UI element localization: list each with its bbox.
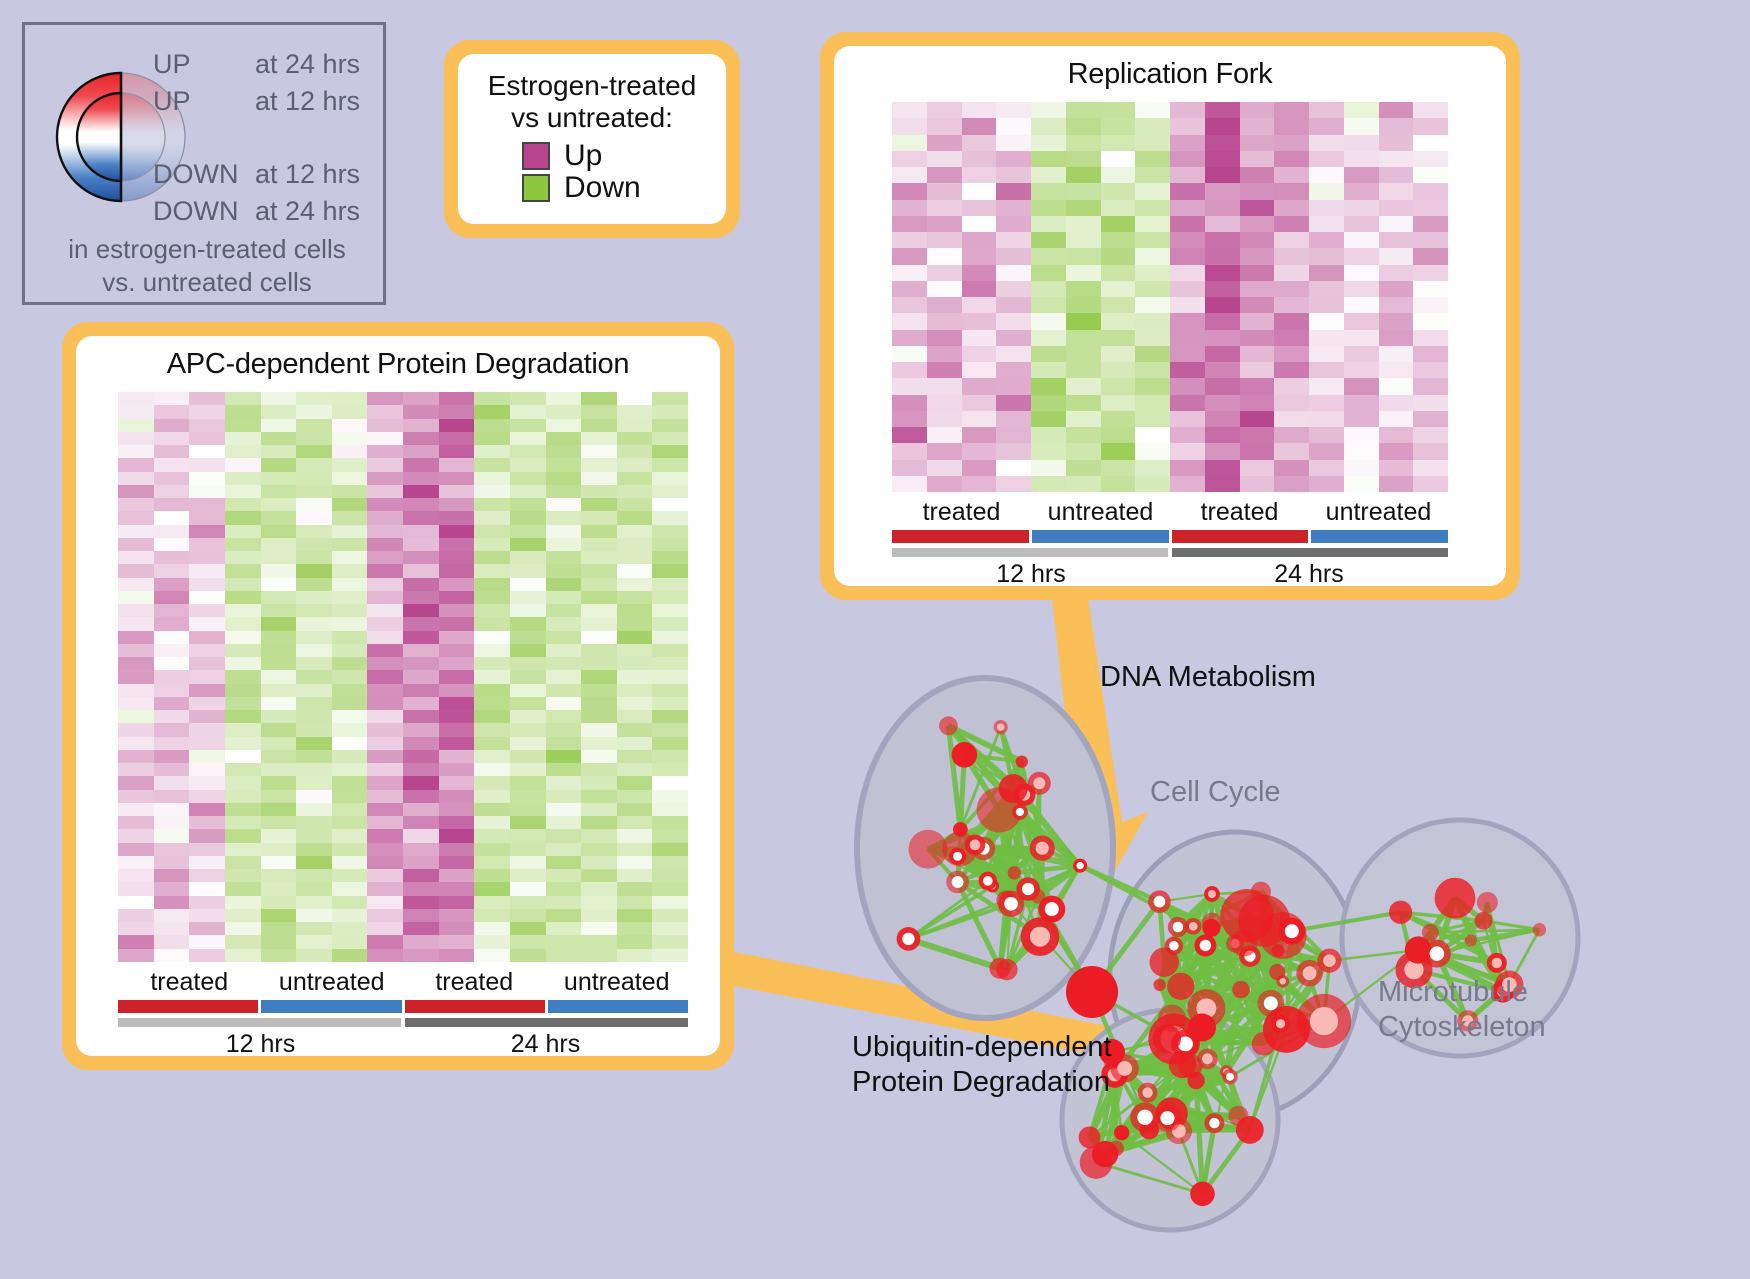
heatmap-cell (367, 419, 403, 432)
heatmap-cell (154, 882, 190, 895)
network-node[interactable] (1423, 940, 1451, 968)
heatmap-cell (261, 472, 297, 485)
circle-legend-row-down12: DOWN at 12 hrs (153, 161, 389, 188)
network-node[interactable] (1297, 994, 1351, 1048)
heatmap-cell (439, 829, 475, 842)
heatmap-cell (367, 949, 403, 962)
network-node[interactable] (952, 742, 978, 768)
network-node[interactable] (953, 822, 968, 837)
heatmap-cell (118, 498, 154, 511)
heatmap-cell (927, 167, 962, 183)
heatmap-cell (332, 498, 368, 511)
heatmap-cell (118, 843, 154, 856)
heatmap-cell (1413, 200, 1448, 216)
network-node-disc (1190, 1182, 1215, 1207)
heatmap-cell (546, 617, 582, 630)
heatmap-cell (332, 909, 368, 922)
group-bar-treated-24 (1172, 530, 1309, 543)
network-node-disc (1114, 1125, 1129, 1140)
heatmap-cell (581, 485, 617, 498)
network-node[interactable] (1276, 975, 1289, 988)
network-node[interactable] (1252, 1032, 1276, 1056)
replication-time-bars (892, 548, 1448, 557)
network-node[interactable] (1477, 892, 1498, 913)
heatmap-cell (225, 644, 261, 657)
heatmap-cell (927, 248, 962, 264)
network-node[interactable] (1251, 882, 1271, 902)
network-node-disc (1477, 892, 1498, 913)
network-node[interactable] (1278, 918, 1305, 945)
heatmap-cell (1240, 313, 1275, 329)
heatmap-cell (617, 604, 653, 617)
heatmap-cell (617, 644, 653, 657)
network-node[interactable] (965, 834, 986, 855)
network-node[interactable] (994, 720, 1008, 734)
heatmap-cell (1240, 330, 1275, 346)
network-node-core (1209, 1118, 1219, 1128)
heatmap-cell (154, 816, 190, 829)
heatmap-cell (546, 419, 582, 432)
network-node-disc (939, 716, 958, 735)
heatmap-cell (962, 102, 997, 118)
heatmap-cell (474, 670, 510, 683)
network-node[interactable] (1167, 973, 1194, 1000)
network-node[interactable] (1028, 772, 1051, 795)
heatmap-cell (118, 750, 154, 763)
heatmap-cell (581, 538, 617, 551)
network-node[interactable] (1092, 1141, 1118, 1167)
heatmap-cell (927, 135, 962, 151)
heatmap-cell (118, 511, 154, 524)
heatmap-cell (546, 869, 582, 882)
heatmap-cell (1344, 232, 1379, 248)
heatmap-cell (892, 427, 927, 443)
heatmap-cell (439, 909, 475, 922)
heatmap-cell (1066, 102, 1101, 118)
heatmap-cell (617, 856, 653, 869)
heatmap-cell (1031, 102, 1066, 118)
heatmap-cell (332, 564, 368, 577)
heatmap-cell (225, 829, 261, 842)
heatmap-cell (261, 922, 297, 935)
heatmap-cell (510, 617, 546, 630)
heatmap-cell (1379, 313, 1414, 329)
heatmap-cell (617, 591, 653, 604)
heatmap-cell (474, 763, 510, 776)
heatmap-cell (652, 670, 688, 683)
heatmap-cell (332, 432, 368, 445)
heatmap-cell (510, 604, 546, 617)
heatmap-cell (652, 405, 688, 418)
heatmap-cell (1413, 427, 1448, 443)
heatmap-cell (510, 525, 546, 538)
heatmap-cell (1101, 265, 1136, 281)
cluster-label-ubiquitin-line2: Protein Degradation (852, 1065, 1112, 1100)
network-node[interactable] (1317, 949, 1341, 973)
network-node[interactable] (1204, 886, 1220, 902)
heatmap-cell (962, 411, 997, 427)
heatmap-cell (1309, 232, 1344, 248)
heatmap-cell (1031, 330, 1066, 346)
heatmap-cell (225, 564, 261, 577)
heatmap-cell (581, 869, 617, 882)
replication-fork-axis: treated untreated treated untreated 12 h (892, 498, 1448, 586)
heatmap-cell (1240, 151, 1275, 167)
network-node[interactable] (1232, 981, 1249, 998)
heatmap-cell (332, 935, 368, 948)
network-node-core (1303, 966, 1317, 980)
heatmap-cell (1413, 395, 1448, 411)
network-node[interactable] (1165, 937, 1183, 955)
network-node[interactable] (1008, 866, 1021, 879)
heatmap-cell (439, 578, 475, 591)
heatmap-cell (189, 644, 225, 657)
heatmap-cell (927, 265, 962, 281)
heatmap-cell (403, 631, 439, 644)
heatmap-cell (1170, 411, 1205, 427)
heatmap-cell (996, 443, 1031, 459)
heatmap-cell (996, 346, 1031, 362)
heatmap-cell (189, 511, 225, 524)
heatmap-cell (617, 498, 653, 511)
heatmap-cell (296, 803, 332, 816)
heatmap-cell (474, 816, 510, 829)
heatmap-cell (1031, 476, 1066, 492)
heatmap-cell (118, 458, 154, 471)
heatmap-cell (439, 458, 475, 471)
heatmap-cell (332, 684, 368, 697)
network-node[interactable] (996, 959, 1017, 980)
heatmap-cell (225, 419, 261, 432)
heatmap-cell (154, 922, 190, 935)
heatmap-cell (1170, 183, 1205, 199)
network-node[interactable] (1487, 953, 1507, 973)
heatmap-cell (118, 737, 154, 750)
heatmap-cell (546, 445, 582, 458)
heatmap-cell (261, 723, 297, 736)
heatmap-cell (1101, 151, 1136, 167)
heatmap-cell (996, 200, 1031, 216)
heatmap-cell (510, 922, 546, 935)
network-node[interactable] (1038, 896, 1065, 923)
heatmap-cell (403, 419, 439, 432)
heatmap-cell (154, 909, 190, 922)
heatmap-cell (439, 511, 475, 524)
heatmap-cell (332, 631, 368, 644)
network-node[interactable] (1169, 1051, 1196, 1078)
network-node[interactable] (1271, 944, 1284, 957)
heatmap-cell (546, 684, 582, 697)
heatmap-cell (296, 591, 332, 604)
heatmap-cell (261, 803, 297, 816)
network-node[interactable] (1114, 1125, 1129, 1140)
heatmap-cell (367, 710, 403, 723)
heatmap-cell (296, 790, 332, 803)
heatmap-cell (1240, 183, 1275, 199)
network-node[interactable] (1475, 912, 1493, 930)
heatmap-cell (367, 869, 403, 882)
network-node[interactable] (1272, 1015, 1290, 1033)
circle-legend-value: at 12 hrs (255, 88, 360, 115)
heatmap-cell (1240, 427, 1275, 443)
network-node[interactable] (1202, 913, 1222, 933)
heatmap-cell (510, 710, 546, 723)
heatmap-cell (1274, 118, 1309, 134)
heatmap-cell (474, 710, 510, 723)
heatmap-cell (617, 803, 653, 816)
heatmap-cell (474, 776, 510, 789)
network-node-disc (953, 822, 968, 837)
heatmap-cell (652, 949, 688, 962)
network-node-disc (1153, 979, 1165, 991)
heatmap-cell (652, 538, 688, 551)
apc-degradation-panel: APC-dependent Protein Degradation treate… (62, 322, 734, 1070)
heatmap-cell (118, 935, 154, 948)
heatmap-cell (154, 604, 190, 617)
network-node-disc (1092, 1141, 1118, 1167)
heatmap-cell (1379, 216, 1414, 232)
heatmap-cell (118, 564, 154, 577)
heatmap-cell (546, 723, 582, 736)
heatmap-cell (474, 419, 510, 432)
heatmap-cell (261, 564, 297, 577)
heatmap-cell (261, 670, 297, 683)
heatmap-cell (154, 631, 190, 644)
heatmap-cell (1066, 411, 1101, 427)
network-node-core (953, 852, 962, 861)
network-node[interactable] (1073, 859, 1087, 873)
heatmap-cell (474, 485, 510, 498)
heatmap-cell (1274, 411, 1309, 427)
network-node[interactable] (1030, 836, 1055, 861)
heatmap-cell (332, 511, 368, 524)
heatmap-cell (962, 265, 997, 281)
heatmap-cell (1135, 346, 1170, 362)
heatmap-cell (225, 803, 261, 816)
time-label-12hrs: 12 hrs (892, 560, 1170, 586)
apc-time-bars (118, 1018, 688, 1027)
heatmap-cell (225, 790, 261, 803)
circle-legend-box: UP at 24 hrs UP at 12 hrs DOWN at 12 hrs… (22, 22, 386, 305)
heatmap-cell (367, 631, 403, 644)
heatmap-cell (1101, 118, 1136, 134)
heatmap-cell (118, 670, 154, 683)
network-node-disc (1230, 929, 1257, 956)
heatmap-cell (225, 816, 261, 829)
heatmap-cell (546, 697, 582, 710)
heatmap-cell (1413, 216, 1448, 232)
circle-legend-key: DOWN (153, 198, 255, 225)
heatmap-cell (403, 922, 439, 935)
heatmap-cell (927, 297, 962, 313)
heatmap-cell (1344, 183, 1379, 199)
network-node[interactable] (1016, 877, 1040, 901)
heatmap-cell (1413, 102, 1448, 118)
heatmap-cell (403, 829, 439, 842)
heatmap-cell (996, 476, 1031, 492)
heatmap-cell (652, 392, 688, 405)
heatmap-cell (1413, 183, 1448, 199)
heatmap-cell (1379, 460, 1414, 476)
heatmap-cell (1240, 297, 1275, 313)
heatmap-cell (225, 670, 261, 683)
circle-legend-value: at 24 hrs (255, 51, 360, 78)
network-node[interactable] (946, 871, 969, 894)
network-node[interactable] (1465, 934, 1477, 946)
heatmap-cell (581, 564, 617, 577)
network-node-core (1076, 862, 1083, 869)
heatmap-cell (617, 763, 653, 776)
network-node[interactable] (1185, 918, 1202, 935)
heatmap-cell (439, 670, 475, 683)
network-node[interactable] (1389, 901, 1412, 924)
heatmap-cell (1274, 281, 1309, 297)
network-node[interactable] (979, 872, 997, 890)
heatmap-cell (546, 485, 582, 498)
heatmap-cell (1240, 135, 1275, 151)
heatmap-cell (332, 419, 368, 432)
heatmap-cell (1240, 281, 1275, 297)
network-node[interactable] (1222, 1069, 1237, 1084)
heatmap-cell (154, 657, 190, 670)
heatmap-cell (962, 460, 997, 476)
heatmap-cell (1135, 411, 1170, 427)
network-node[interactable] (1138, 1083, 1158, 1103)
heatmap-cell (1309, 183, 1344, 199)
heatmap-cell (581, 670, 617, 683)
heatmap-cell (225, 869, 261, 882)
network-node[interactable] (1016, 755, 1028, 767)
heatmap-cell (546, 750, 582, 763)
heatmap-cell (1135, 167, 1170, 183)
heatmap-cell (1274, 313, 1309, 329)
network-node[interactable] (1148, 890, 1171, 913)
heatmap-cell (1205, 151, 1240, 167)
network-node[interactable] (909, 830, 948, 869)
heatmap-cell (261, 419, 297, 432)
circle-legend-key: DOWN (153, 161, 255, 188)
heatmap-cell (1066, 265, 1101, 281)
heatmap-cell (1205, 476, 1240, 492)
heatmap-cell (927, 378, 962, 394)
network-node[interactable] (1533, 923, 1546, 936)
heatmap-cell (261, 935, 297, 948)
heatmap-cell (1379, 248, 1414, 264)
network-node[interactable] (1204, 1113, 1224, 1133)
heatmap-cell (474, 498, 510, 511)
heatmap-cell (261, 617, 297, 630)
heatmap-cell (367, 511, 403, 524)
heatmap-cell (581, 790, 617, 803)
heatmap-cell (118, 392, 154, 405)
heatmap-cell (225, 578, 261, 591)
heatmap-cell (617, 843, 653, 856)
network-node[interactable] (1228, 1106, 1248, 1126)
heatmap-cell (367, 737, 403, 750)
network-node[interactable] (1188, 1014, 1216, 1042)
network-node[interactable] (1066, 966, 1118, 1018)
heatmap-cell (474, 405, 510, 418)
group-label-untreated-12: untreated (1031, 498, 1170, 527)
network-node[interactable] (1012, 804, 1028, 820)
heatmap-cell (118, 644, 154, 657)
network-node-core (1492, 958, 1502, 968)
heatmap-cell (1031, 265, 1066, 281)
heatmap-cell (1101, 216, 1136, 232)
legend-item-down-label: Down (564, 173, 641, 203)
heatmap-cell (1274, 427, 1309, 443)
heatmap-cell (1170, 297, 1205, 313)
heatmap-cell (1309, 151, 1344, 167)
heatmap-cell (1205, 427, 1240, 443)
heatmap-cell (261, 737, 297, 750)
heatmap-cell (225, 458, 261, 471)
heatmap-cell (225, 697, 261, 710)
heatmap-cell (1205, 281, 1240, 297)
heatmap-cell (927, 102, 962, 118)
heatmap-cell (403, 710, 439, 723)
heatmap-cell (1031, 118, 1066, 134)
network-node[interactable] (1194, 934, 1216, 956)
heatmap-cell (996, 167, 1031, 183)
heatmap-cell (189, 591, 225, 604)
network-node[interactable] (1190, 1182, 1215, 1207)
heatmap-cell (261, 551, 297, 564)
heatmap-cell (1309, 102, 1344, 118)
heatmap-cell (261, 538, 297, 551)
network-node[interactable] (897, 927, 921, 951)
heatmap-cell (892, 443, 927, 459)
network-node[interactable] (1153, 979, 1165, 991)
group-label-untreated-24: untreated (546, 968, 689, 997)
network-node[interactable] (1021, 917, 1060, 956)
network-node[interactable] (939, 716, 958, 735)
heatmap-cell (617, 405, 653, 418)
network-node[interactable] (1230, 929, 1257, 956)
heatmap-cell (1240, 102, 1275, 118)
heatmap-cell (154, 392, 190, 405)
network-node[interactable] (1435, 878, 1476, 919)
heatmap-cell (1066, 216, 1101, 232)
heatmap-cell (1344, 330, 1379, 346)
heatmap-cell (652, 644, 688, 657)
time-bar-24hrs (405, 1018, 688, 1027)
heatmap-cell (332, 472, 368, 485)
heatmap-cell (474, 525, 510, 538)
network-node[interactable] (1257, 990, 1284, 1017)
heatmap-cell (1344, 118, 1379, 134)
network-node[interactable] (999, 774, 1028, 803)
heatmap-cell (118, 684, 154, 697)
heatmap-cell (189, 776, 225, 789)
heatmap-cell (652, 723, 688, 736)
heatmap-cell (403, 564, 439, 577)
heatmap-cell (1031, 346, 1066, 362)
heatmap-cell (510, 392, 546, 405)
heatmap-cell (261, 458, 297, 471)
heatmap-cell (189, 856, 225, 869)
heatmap-cell (546, 882, 582, 895)
heatmap-cell (474, 922, 510, 935)
network-node[interactable] (1153, 1025, 1181, 1053)
heatmap-cell (996, 265, 1031, 281)
heatmap-cell (189, 710, 225, 723)
heatmap-cell (154, 684, 190, 697)
network-node[interactable] (1130, 1103, 1160, 1133)
heatmap-cell (474, 856, 510, 869)
network-node-disc (1533, 923, 1546, 936)
network-node[interactable] (949, 848, 966, 865)
